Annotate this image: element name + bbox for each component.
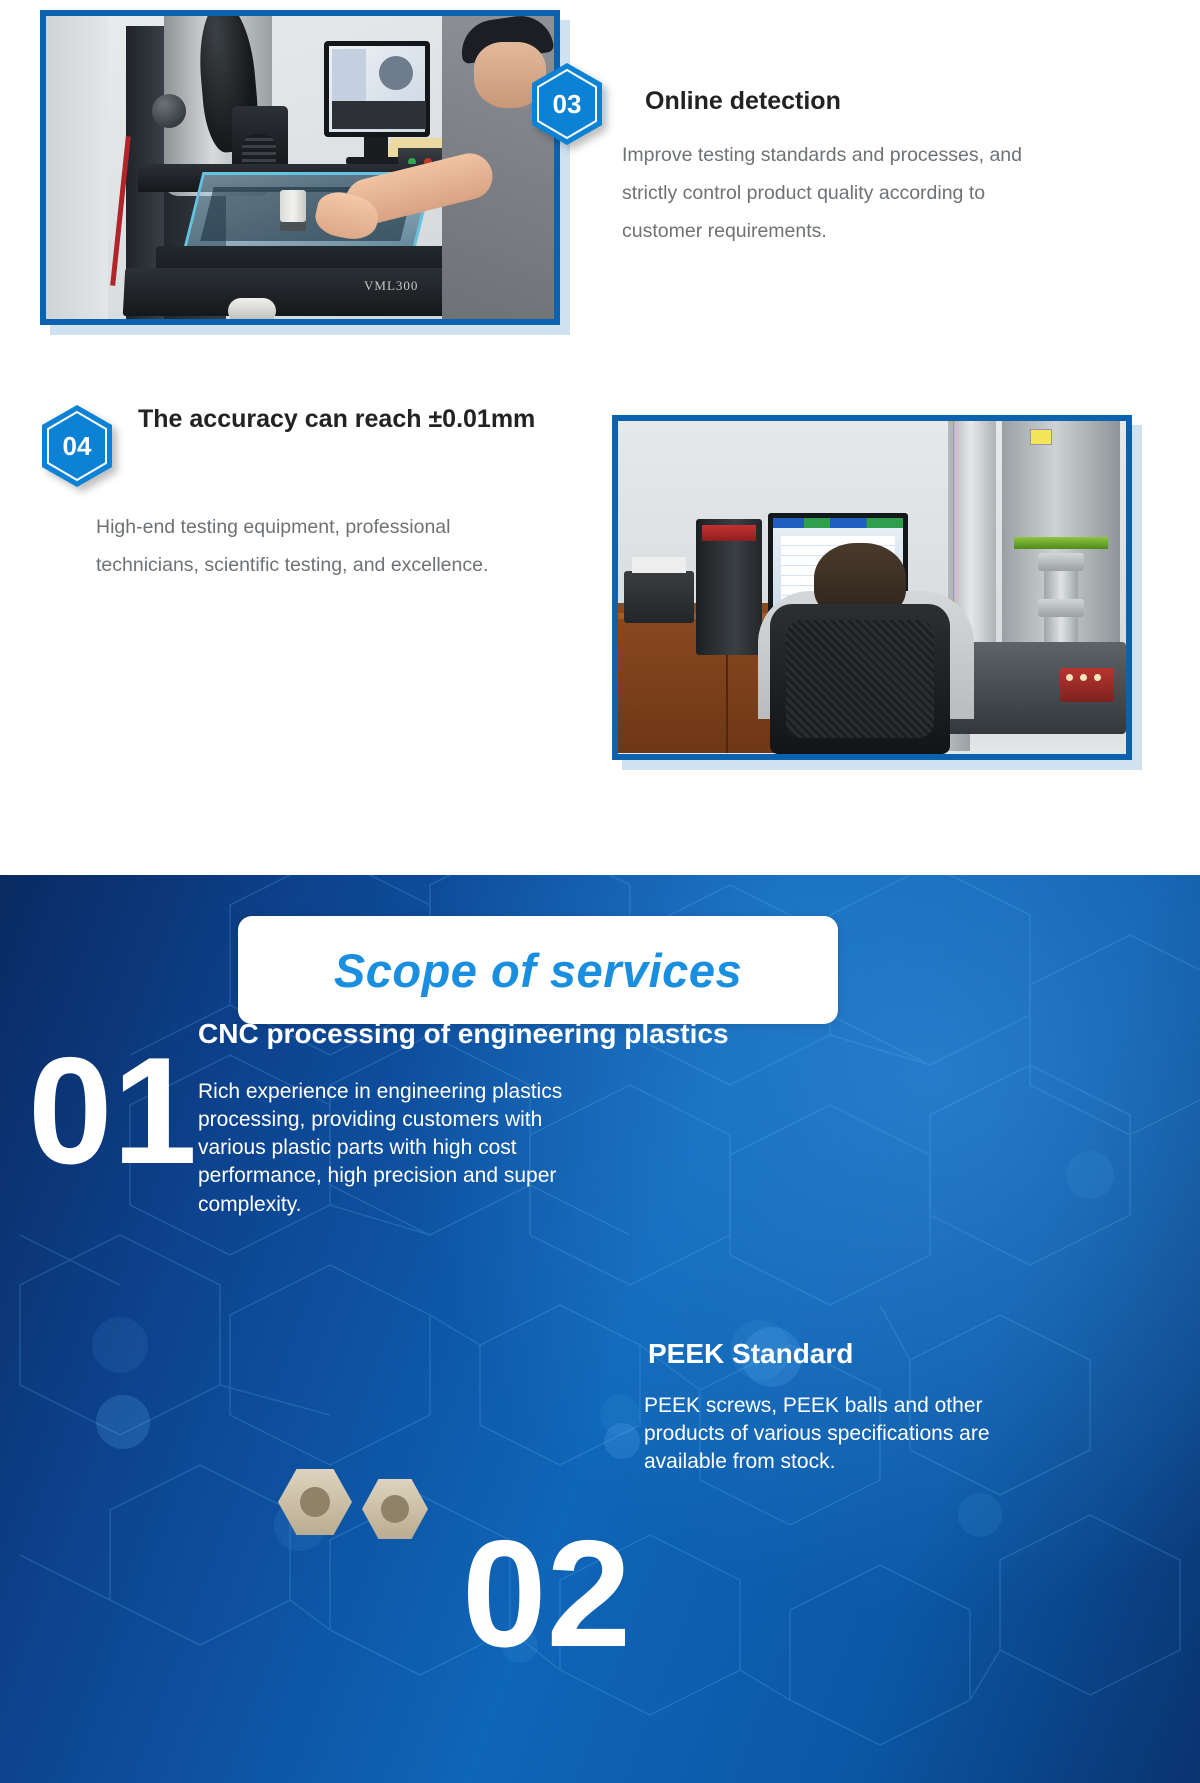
service-body-peek: PEEK screws, PEEK balls and other produc… [644,1392,1022,1476]
badge-number: 03 [530,62,604,146]
scope-heading: Scope of services [334,943,742,998]
badge-hexagon-03: 03 [530,62,604,146]
feature-title-accuracy: The accuracy can reach ±0.01mm [138,402,538,437]
badge-number: 04 [40,404,114,488]
service-title-cnc: CNC processing of engineering plastics [198,1018,978,1050]
feature-body-accuracy: High-end testing equipment, professional… [96,508,526,584]
service-title-peek: PEEK Standard [648,1338,853,1370]
badge-hexagon-04: 04 [40,404,114,488]
features-section: VML300 03 Online detection Improve testi… [0,0,1200,875]
feature-body-online-detection: Improve testing standards and processes,… [622,136,1022,250]
service-number-01: 01 [28,1035,197,1187]
feature-title-online-detection: Online detection [645,84,1065,119]
photo-online-detection: VML300 [40,10,560,325]
machine-model-label: VML300 [364,278,418,294]
service-body-cnc: Rich experience in engineering plastics … [198,1078,598,1219]
scope-title-card: Scope of services [238,916,838,1024]
photo-testing-lab [612,415,1132,760]
service-number-02: 02 [462,1518,631,1670]
